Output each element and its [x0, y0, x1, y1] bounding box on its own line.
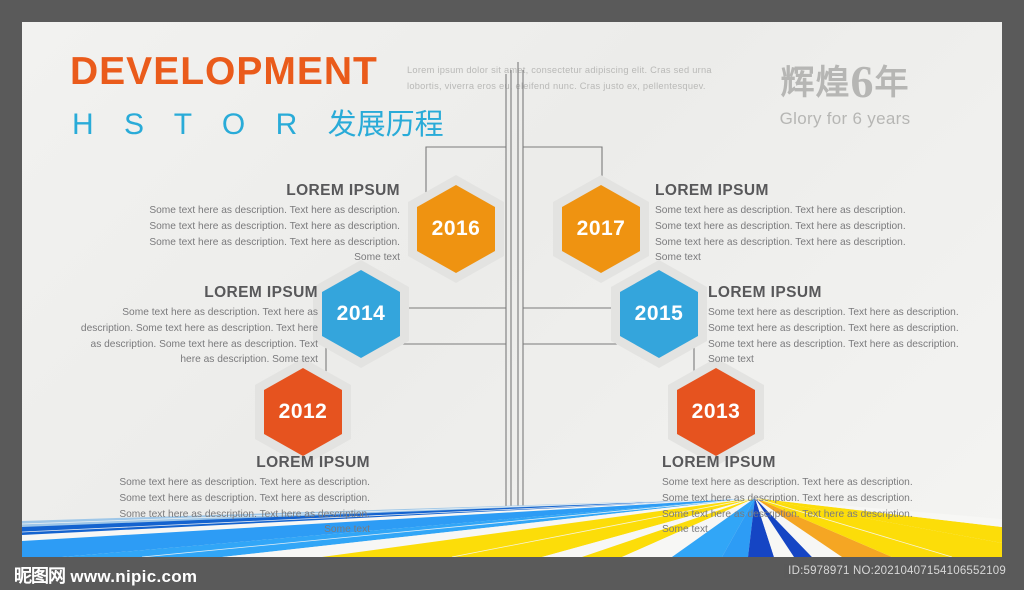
milestone-body: Some text here as description. Text here… — [104, 475, 370, 538]
milestone-text-2015: LOREM IPSUM Some text here as descriptio… — [708, 284, 960, 368]
milestone-title: LOREM IPSUM — [104, 454, 370, 472]
milestone-body: Some text here as description. Text here… — [662, 475, 942, 538]
watermark-bar: 昵图网 www.nipic.com ID:5978971 NO:20210407… — [0, 557, 1024, 590]
milestone-text-2012: LOREM IPSUM Some text here as descriptio… — [104, 454, 370, 538]
watermark-logo-cn: 昵图网 — [14, 566, 65, 587]
milestone-body: Some text here as description. Text here… — [655, 203, 930, 266]
milestone-title: LOREM IPSUM — [70, 284, 318, 302]
site-watermark: 昵图网 www.nipic.com — [14, 562, 197, 588]
milestone-title: LOREM IPSUM — [130, 182, 400, 200]
milestone-title: LOREM IPSUM — [708, 284, 960, 302]
milestone-body: Some text here as description. Text here… — [70, 305, 318, 368]
milestone-text-2016: LOREM IPSUM Some text here as descriptio… — [130, 182, 400, 266]
milestone-text-2013: LOREM IPSUM Some text here as descriptio… — [662, 454, 942, 538]
milestone-text-2017: LOREM IPSUM Some text here as descriptio… — [655, 182, 930, 266]
milestone-text-2014: LOREM IPSUM Some text here as descriptio… — [70, 284, 318, 368]
infographic-poster: DEVELOPMENT H S T O R 发展历程 Lorem ipsum d… — [22, 22, 1002, 557]
milestone-body: Some text here as description. Text here… — [708, 305, 960, 368]
screenshot-canvas: DEVELOPMENT H S T O R 发展历程 Lorem ipsum d… — [0, 0, 1024, 590]
asset-id-text: ID:5978971 NO:20210407154106552109 — [784, 564, 1010, 578]
milestone-title: LOREM IPSUM — [662, 454, 942, 472]
watermark-url: www.nipic.com — [70, 567, 197, 586]
milestone-title: LOREM IPSUM — [655, 182, 930, 200]
milestone-body: Some text here as description. Text here… — [130, 203, 400, 266]
